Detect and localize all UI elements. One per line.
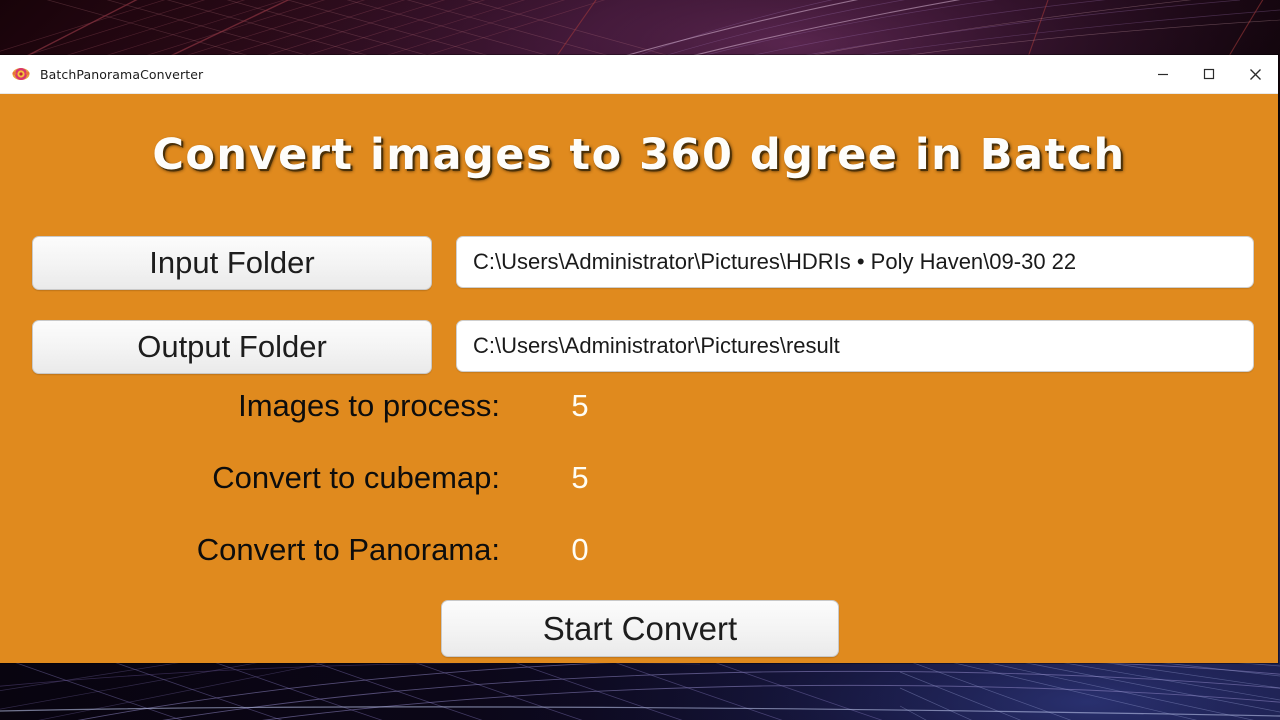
stat-label: Convert to Panorama: [0, 532, 500, 568]
start-convert-button[interactable]: Start Convert [441, 600, 839, 657]
window-client-area: Convert images to 360 dgree in Batch Inp… [0, 94, 1278, 663]
stat-row-convert-to-panorama: Convert to Panorama: 0 [0, 528, 700, 572]
output-folder-button[interactable]: Output Folder [32, 320, 432, 374]
application-window: BatchPanoramaConverter Convert ima [0, 55, 1278, 663]
stat-value: 0 [500, 532, 660, 568]
page-title: Convert images to 360 dgree in Batch [0, 134, 1278, 177]
stat-row-convert-to-cubemap: Convert to cubemap: 5 [0, 456, 700, 500]
stat-row-images-to-process: Images to process: 5 [0, 384, 700, 428]
window-title-bar[interactable]: BatchPanoramaConverter [0, 55, 1278, 94]
stat-label: Images to process: [0, 388, 500, 424]
window-title: BatchPanoramaConverter [40, 67, 203, 82]
close-icon [1249, 68, 1262, 81]
window-controls [1140, 55, 1278, 93]
input-folder-path-field[interactable]: C:\Users\Administrator\Pictures\HDRIs • … [456, 236, 1254, 288]
stat-value: 5 [500, 388, 660, 424]
minimize-button[interactable] [1140, 55, 1186, 93]
app-orb-icon [12, 65, 30, 83]
close-button[interactable] [1232, 55, 1278, 93]
minimize-icon [1157, 68, 1169, 80]
output-folder-path-field[interactable]: C:\Users\Administrator\Pictures\result [456, 320, 1254, 372]
stat-value: 5 [500, 460, 660, 496]
stat-label: Convert to cubemap: [0, 460, 500, 496]
maximize-button[interactable] [1186, 55, 1232, 93]
maximize-icon [1203, 68, 1215, 80]
input-folder-button[interactable]: Input Folder [32, 236, 432, 290]
